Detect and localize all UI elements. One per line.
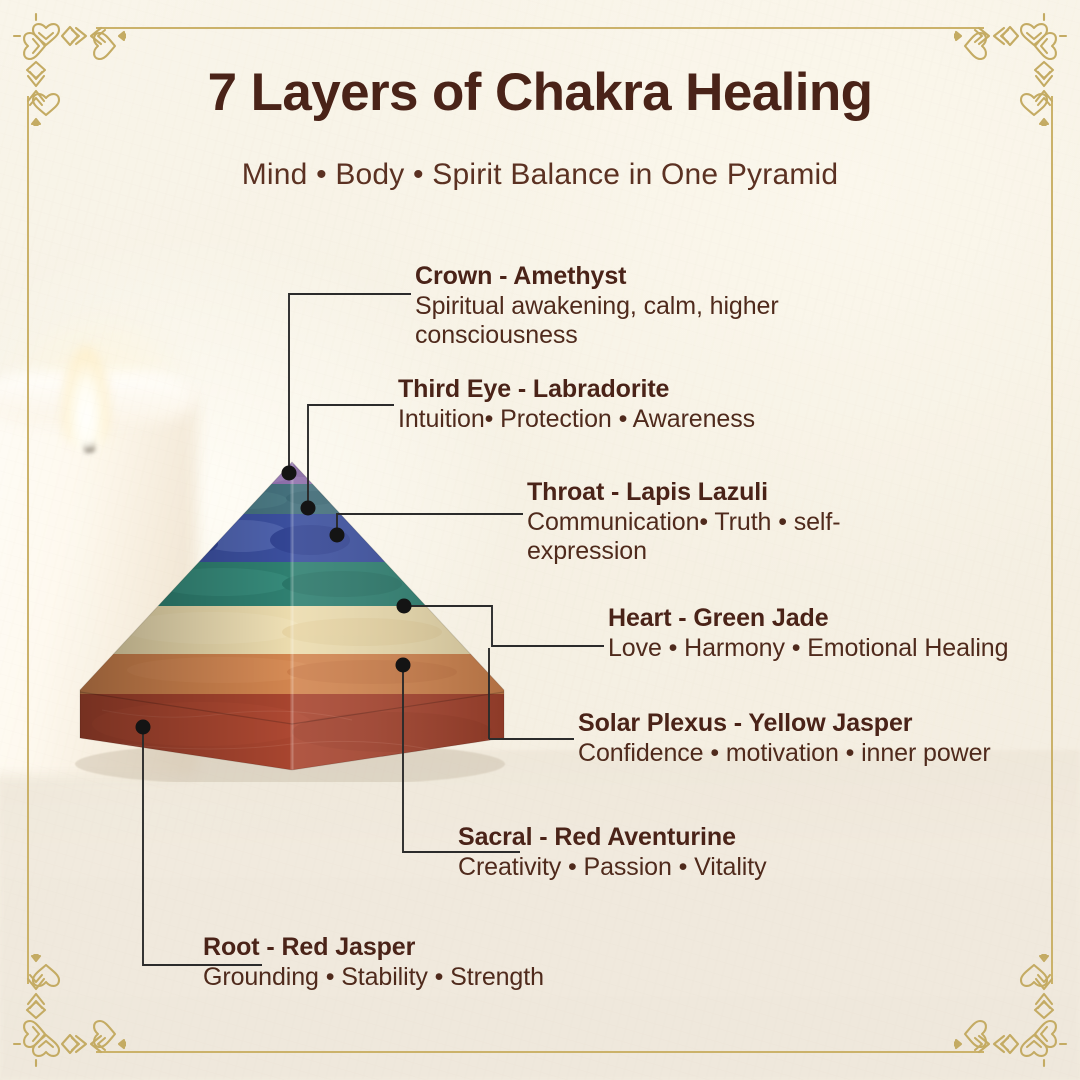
chakra-description-solar-plexus: Confidence • motivation • inner power [578, 739, 1028, 768]
corner-ornament-icon [954, 954, 1074, 1074]
chakra-description-sacral: Creativity • Passion • Vitality [458, 853, 908, 882]
frame-line-right [1051, 96, 1053, 984]
chakra-label-throat: Throat - Lapis Lazuli Communication• Tru… [527, 478, 947, 566]
chakra-description-throat: Communication• Truth • self-expression [527, 508, 947, 567]
page-title: 7 Layers of Chakra Healing [0, 62, 1080, 123]
table-surface [0, 750, 1080, 1080]
frame-line-left [27, 96, 29, 984]
chakra-label-crown: Crown - Amethyst Spiritual awakening, ca… [415, 262, 905, 350]
chakra-title-solar-plexus: Solar Plexus - Yellow Jasper [578, 709, 1028, 739]
chakra-description-third-eye: Intuition• Protection • Awareness [398, 405, 898, 434]
chakra-label-sacral: Sacral - Red Aventurine Creativity • Pas… [458, 823, 908, 882]
chakra-label-root: Root - Red Jasper Grounding • Stability … [203, 933, 703, 992]
chakra-label-heart: Heart - Green Jade Love • Harmony • Emot… [608, 604, 1028, 663]
chakra-description-root: Grounding • Stability • Strength [203, 963, 703, 992]
frame-line-bottom [96, 1051, 984, 1053]
chakra-title-sacral: Sacral - Red Aventurine [458, 823, 908, 853]
chakra-title-root: Root - Red Jasper [203, 933, 703, 963]
chakra-title-heart: Heart - Green Jade [608, 604, 1028, 634]
chakra-title-throat: Throat - Lapis Lazuli [527, 478, 947, 508]
corner-ornament-icon [6, 954, 126, 1074]
chakra-description-crown: Spiritual awakening, calm, higher consci… [415, 292, 905, 351]
infographic-poster: 7 Layers of Chakra Healing Mind • Body •… [0, 0, 1080, 1080]
frame-line-top [96, 27, 984, 29]
chakra-pyramid-image [42, 452, 542, 782]
chakra-label-solar-plexus: Solar Plexus - Yellow Jasper Confidence … [578, 709, 1028, 768]
chakra-label-third-eye: Third Eye - Labradorite Intuition• Prote… [398, 375, 898, 434]
page-subtitle: Mind • Body • Spirit Balance in One Pyra… [0, 158, 1080, 192]
chakra-description-heart: Love • Harmony • Emotional Healing [608, 634, 1028, 663]
chakra-title-crown: Crown - Amethyst [415, 262, 905, 292]
chakra-title-third-eye: Third Eye - Labradorite [398, 375, 898, 405]
